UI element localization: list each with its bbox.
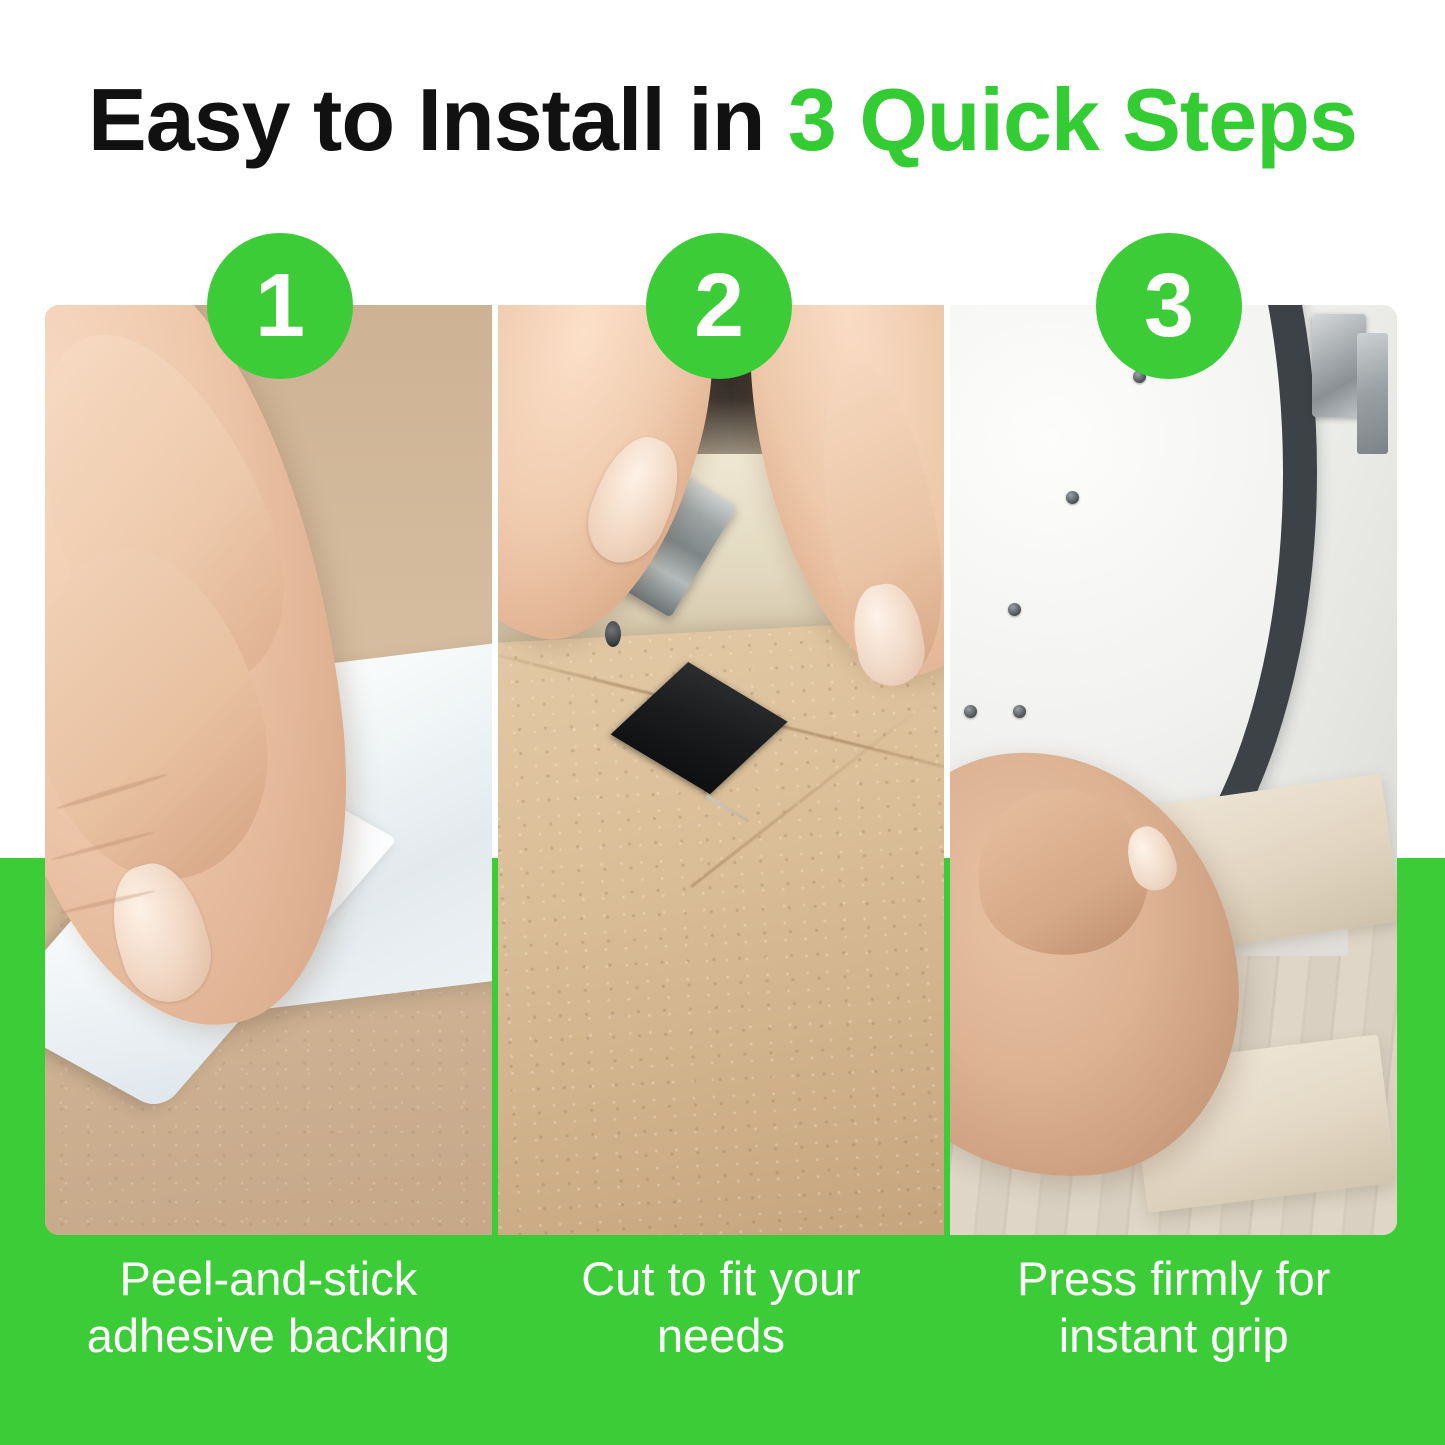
headline-accent-text: 3 Quick Steps bbox=[788, 70, 1357, 169]
step-number-2: 2 bbox=[694, 261, 744, 351]
step-number-1: 1 bbox=[255, 261, 305, 351]
step-caption-1: Peel-and-stick adhesive backing bbox=[45, 1250, 492, 1365]
step-caption-3: Press firmly for instant grip bbox=[950, 1250, 1397, 1365]
door-rivet-image bbox=[1013, 705, 1026, 718]
step-caption-2: Cut to fit your needs bbox=[498, 1250, 945, 1365]
step-photo-2 bbox=[498, 305, 945, 1235]
press-firmly-scene bbox=[950, 305, 1397, 1235]
door-hinge-bracket-image bbox=[1357, 333, 1388, 454]
knife-screw-image bbox=[605, 621, 621, 647]
step-photo-row bbox=[45, 305, 1397, 1235]
peel-and-stick-scene bbox=[45, 305, 492, 1235]
step-badge-1: 1 bbox=[207, 233, 353, 379]
step-caption-row: Peel-and-stick adhesive backing Cut to f… bbox=[45, 1250, 1397, 1365]
headline-lead-text: Easy to Install in bbox=[88, 70, 788, 169]
step-badge-3: 3 bbox=[1096, 233, 1242, 379]
install-steps-infographic: Easy to Install in 3 Quick Steps bbox=[0, 0, 1445, 1445]
step-number-3: 3 bbox=[1144, 261, 1194, 351]
page-title: Easy to Install in 3 Quick Steps bbox=[0, 74, 1445, 166]
door-rivet-image bbox=[1008, 603, 1021, 616]
door-rivet-image bbox=[964, 705, 977, 718]
step-photo-3 bbox=[950, 305, 1397, 1235]
step-badge-2: 2 bbox=[646, 233, 792, 379]
cut-to-fit-scene bbox=[498, 305, 945, 1235]
step-photo-1 bbox=[45, 305, 492, 1235]
